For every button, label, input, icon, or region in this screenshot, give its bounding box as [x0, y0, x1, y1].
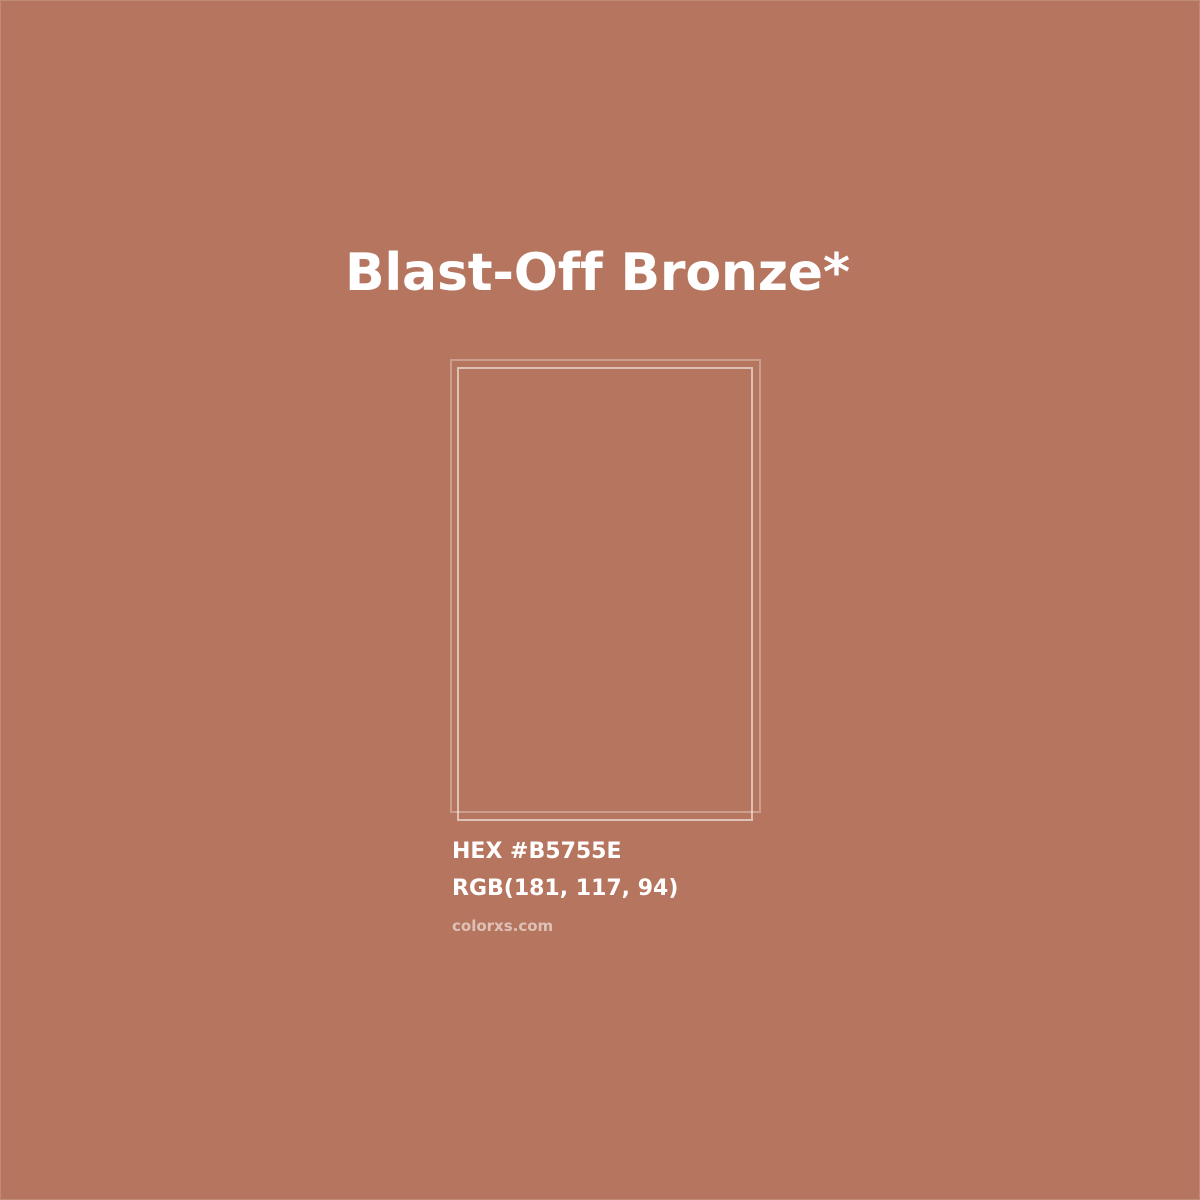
source-credit-label: colorxs.com — [452, 907, 952, 936]
color-value-block: HEX #B5755E RGB(181, 117, 94) colorxs.co… — [452, 833, 952, 936]
swatch-frame-front — [457, 367, 753, 821]
color-swatch-graphic — [1, 1, 1200, 1200]
rgb-value-label: RGB(181, 117, 94) — [452, 870, 952, 907]
page-title: Blast-Off Bronze* — [345, 241, 945, 305]
swatch-frame-back — [450, 359, 761, 813]
hex-value-label: HEX #B5755E — [452, 833, 952, 870]
color-swatch-page: Blast-Off Bronze* HEX #B5755E RGB(181, 1… — [0, 0, 1200, 1200]
